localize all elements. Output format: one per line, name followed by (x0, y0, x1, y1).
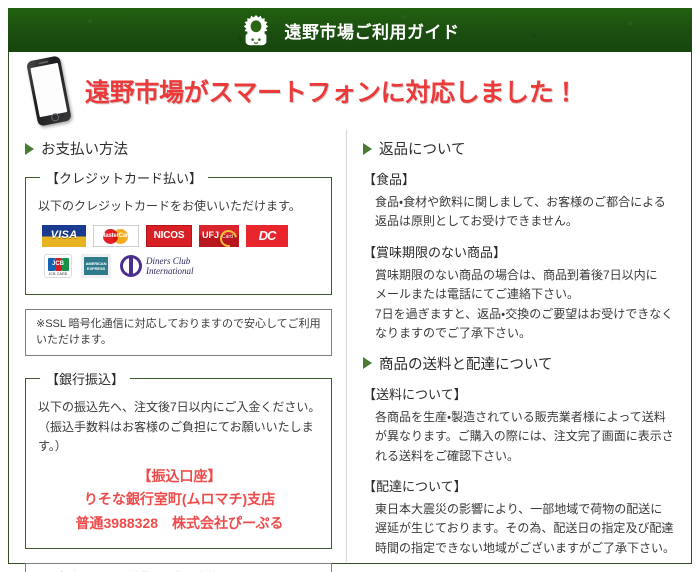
banner-content: 遠野市場ご利用ガイド (241, 14, 460, 46)
returns-no-expiry-line-4: なりますのでご了承下さい。 (375, 324, 675, 343)
visa-logo: VISA (42, 225, 86, 247)
triangle-bullet-icon (25, 143, 34, 155)
content-columns: お支払い方法 【クレジットカード払い】 以下のクレジットカードをお使いいただけま… (9, 130, 691, 562)
bank-account-number: 普通3988328 株式会社ぴーぷる (38, 512, 321, 535)
credit-card-logos: VISA MasterCard NICOS UFJCard DC (38, 225, 321, 278)
bank-account-branch: りそな銀行室町(ムロマチ)支店 (38, 488, 321, 511)
delivery-line-3: 時間の指定できない地域がございますがご了承下さい。 (375, 539, 675, 558)
section-heading-payment: お支払い方法 (25, 138, 332, 159)
returns-shipping-column: 返品について 【食品】 食品・食材や飲料に関しまして、お客様のご都合による 返品… (346, 130, 691, 562)
delivery-heading: 【配達について】 (363, 476, 675, 495)
returns-food-heading: 【食品】 (363, 169, 675, 188)
bank-transfer-line-1: 以下の振込先へ、注文後7日以内にご入金ください。 (38, 398, 321, 417)
ssl-note-box: ※SSL 暗号化通信に対応しておりますので安心してご利用いただけます。 (25, 309, 332, 356)
returns-food-line-1: 食品・食材や飲料に関しまして、お客様のご都合による (375, 193, 675, 212)
credit-card-legend: 【クレジットカード払い】 (40, 168, 208, 187)
payment-column: お支払い方法 【クレジットカード払い】 以下のクレジットカードをお使いいただけま… (9, 130, 346, 562)
credit-card-box: 【クレジットカード払い】 以下のクレジットカードをお使いいただけます。 VISA… (25, 168, 332, 295)
delivery-text: 東日本大震災の影響により、一部地域で荷物の配送に 遅延が生じております。その為、… (363, 500, 675, 558)
bank-account-title: 【振込口座】 (38, 465, 321, 488)
returns-no-expiry-heading: 【賞味期限のない商品】 (363, 242, 675, 261)
shipping-fee-line-1: 各商品を生産・製造されている販売業者様によって送料 (375, 408, 675, 427)
amex-logo: AMERICANEXPRESS (81, 254, 111, 278)
returns-food-text: 食品・食材や飲料に関しまして、お客様のご都合による 返品は原則としてお受けできま… (363, 193, 675, 232)
shipping-fee-line-3: れる送料をご確認下さい。 (375, 447, 675, 466)
page-title: 遠野市場ご利用ガイド (285, 18, 460, 43)
content-frame: 遠野市場がスマートフォンに対応しました！ お支払い方法 【クレジットカード払い】… (8, 52, 692, 564)
bank-transfer-legend: 【銀行振込】 (40, 369, 130, 388)
section-heading-shipping-label: 商品の送料と配達について (379, 353, 553, 374)
delivery-line-2: 遅延が生じております。その為、配送日の指定及び配達 (375, 519, 675, 538)
returns-no-expiry-line-2: メールまたは電話にてご連絡下さい。 (375, 285, 675, 304)
ssl-note-text: ※SSL 暗号化通信に対応しておりますので安心してご利用いただけます。 (36, 316, 321, 349)
shipping-fee-text: 各商品を生産・製造されている販売業者様によって送料 が異なります。ご購入の際には… (363, 408, 675, 466)
nicos-logo: NICOS (146, 225, 192, 247)
returns-no-expiry-text: 賞味期限のない商品の場合は、商品到着後7日以内に メールまたは電話にてご連絡下さ… (363, 266, 675, 344)
shipping-fee-line-2: が異なります。ご購入の際には、注文完了画面に表示さ (375, 427, 675, 446)
section-heading-returns: 返品について (363, 138, 675, 159)
bank-account-details: 【振込口座】 りそな銀行室町(ムロマチ)支店 普通3988328 株式会社ぴーぷ… (38, 465, 321, 534)
dc-card-logo: DC (246, 225, 288, 247)
returns-no-expiry-line-1: 賞味期限のない商品の場合は、商品到着後7日以内に (375, 266, 675, 285)
guide-page: 遠野市場ご利用ガイド (0, 0, 700, 572)
diners-club-logo: Diners ClubInternational (120, 255, 194, 277)
returns-food-line-2: 返品は原則としてお受けできません。 (375, 212, 675, 231)
shipping-timing-note-box: ※入金確認日から3営業日以内に発送いたします。 お急ぎの場合は、お早めの入金をお… (25, 563, 332, 572)
hero-section: 遠野市場がスマートフォンに対応しました！ (9, 52, 691, 130)
section-heading-returns-label: 返品について (379, 138, 466, 159)
bank-transfer-box: 【銀行振込】 以下の振込先へ、注文後7日以内にご入金ください。 （振込手数料はお… (25, 369, 332, 549)
ufj-card-logo: UFJCard (199, 225, 239, 247)
triangle-bullet-icon (363, 357, 372, 369)
credit-card-logo-row-2: JCBJCB CARD AMERICANEXPRESS Diners ClubI… (38, 254, 321, 278)
section-heading-payment-label: お支払い方法 (41, 138, 128, 159)
section-heading-shipping: 商品の送料と配達について (363, 353, 675, 374)
mastercard-logo: MasterCard (93, 225, 139, 247)
page-header-banner: 遠野市場ご利用ガイド (8, 8, 692, 52)
credit-card-logo-row-1: VISA MasterCard NICOS UFJCard DC (38, 225, 321, 247)
jcb-logo: JCBJCB CARD (44, 254, 72, 278)
smartphone-image (23, 55, 75, 127)
bank-transfer-line-2: （振込手数料はお客様のご負担にてお願いいたします。） (38, 418, 321, 455)
shipping-fee-heading: 【送料について】 (363, 384, 675, 403)
returns-no-expiry-line-3: 7日を過ぎますと、返品・交換のご要望はお受けできなく (375, 305, 675, 324)
delivery-line-1: 東日本大震災の影響により、一部地域で荷物の配送に (375, 500, 675, 519)
triangle-bullet-icon (363, 143, 372, 155)
hero-headline: 遠野市場がスマートフォンに対応しました！ (85, 73, 578, 109)
kappa-mascot-icon (241, 14, 271, 46)
credit-card-intro: 以下のクレジットカードをお使いいただけます。 (38, 197, 321, 216)
